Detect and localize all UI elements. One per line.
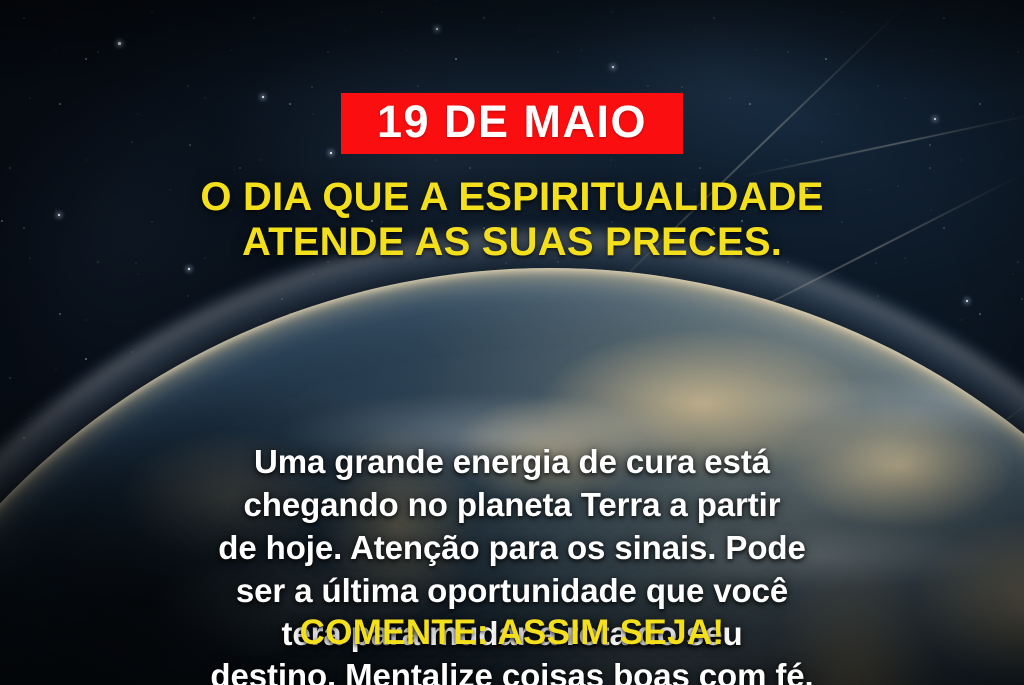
date-banner-label: 19 DE MAIO <box>377 99 647 144</box>
date-banner: 19 DE MAIO <box>341 93 683 154</box>
body-line-6: destino. Mentalize coisas boas com fé. <box>57 655 967 685</box>
poster-content: 19 DE MAIO O DIA QUE A ESPIRITUALIDADE A… <box>0 0 1024 685</box>
headline-line-2: ATENDE AS SUAS PRECES. <box>62 220 962 265</box>
poster-canvas: 19 DE MAIO O DIA QUE A ESPIRITUALIDADE A… <box>0 0 1024 685</box>
headline-line-1: O DIA QUE A ESPIRITUALIDADE <box>62 175 962 220</box>
headline: O DIA QUE A ESPIRITUALIDADE ATENDE AS SU… <box>62 175 962 265</box>
call-to-action: COMENTE: ASSIM SEJA! <box>300 613 725 653</box>
body-line-4: ser a última oportunidade que você <box>57 570 967 613</box>
body-line-3: de hoje. Atenção para os sinais. Pode <box>57 527 967 570</box>
body-line-2: chegando no planeta Terra a partir <box>57 484 967 527</box>
body-line-1: Uma grande energia de cura está <box>57 441 967 484</box>
